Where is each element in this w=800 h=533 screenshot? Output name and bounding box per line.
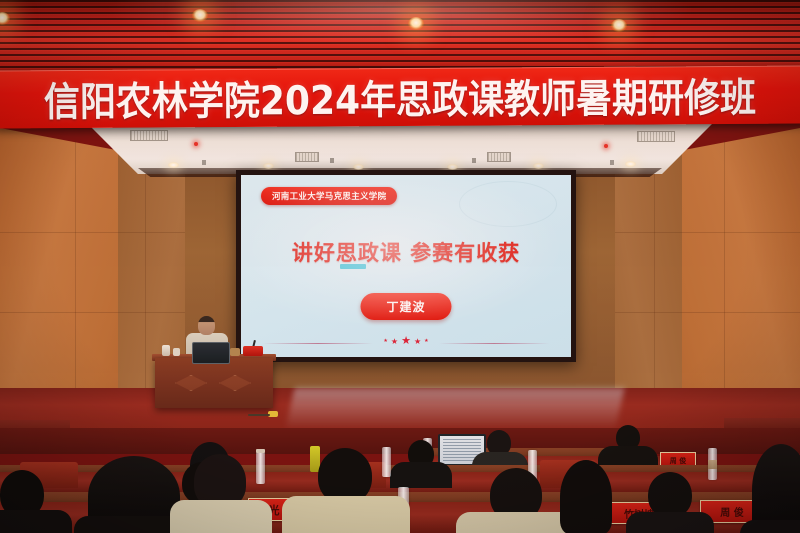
slide-watermark xyxy=(459,181,557,227)
water-bottle xyxy=(382,447,391,477)
podium-red-folder xyxy=(243,346,263,356)
audience-shoulders xyxy=(282,496,410,533)
ceiling-sprinkler xyxy=(610,160,614,165)
ceiling-sprinkler xyxy=(330,158,334,163)
audience-shoulders xyxy=(626,512,714,533)
ceiling-indicator-light xyxy=(194,142,198,146)
recessed-downlight xyxy=(263,163,274,169)
red-slatted-ceiling xyxy=(0,0,800,72)
stage-floor-cable xyxy=(248,414,270,416)
star-icon: ★ xyxy=(391,338,398,346)
audience-hair xyxy=(560,460,612,533)
audience-shoulders xyxy=(740,520,800,533)
white-ceiling-soffit xyxy=(88,124,712,174)
audience-shoulders xyxy=(170,500,272,533)
podium-panel-carving xyxy=(175,375,207,391)
ceiling-sprinkler xyxy=(202,160,206,165)
wall-seam xyxy=(612,232,800,233)
ceiling-sprinkler xyxy=(472,158,476,163)
podium-teacup xyxy=(173,348,180,356)
star-icon: ★ xyxy=(401,336,411,347)
wall-seam xyxy=(654,156,655,424)
speaker-head xyxy=(198,316,215,335)
recessed-downlight xyxy=(533,163,544,169)
wall-seam xyxy=(0,312,188,313)
ceiling-indicator-light xyxy=(604,144,608,148)
recessed-downlight xyxy=(625,161,636,167)
placard-name-text: 周 俊 xyxy=(670,456,686,466)
placard-name-text: 周 俊 xyxy=(720,504,743,519)
hvac-vent xyxy=(295,152,319,162)
podium-laptop xyxy=(192,342,230,364)
ceiling-spotlight xyxy=(192,9,208,22)
wall-seam xyxy=(612,312,800,313)
wall-seam xyxy=(0,232,188,233)
lecture-hall-photo: 信阳农林学院2024年思政课教师暑期研修班 河南工业大学马克思主义学院 讲好思政… xyxy=(0,0,800,533)
stage-front-riser xyxy=(0,428,800,454)
bottle-label xyxy=(708,460,717,469)
star-icon: ★ xyxy=(424,339,428,344)
projection-screen-frame: 河南工业大学马克思主义学院 讲好思政课 参赛有收获 丁建波 ★ ★ ★ ★ ★ xyxy=(236,170,576,362)
bottle-cap xyxy=(256,449,265,453)
hvac-vent xyxy=(637,131,675,142)
wall-seam xyxy=(145,156,146,424)
ceiling-spotlight xyxy=(611,19,627,32)
recessed-downlight xyxy=(168,162,179,168)
event-banner: 信阳农林学院2024年思政课教师暑期研修班 xyxy=(0,66,800,129)
podium-water-cup xyxy=(162,345,170,356)
slide-presenter-name: 丁建波 xyxy=(360,293,451,320)
banner-title-text: 信阳农林学院2024年思政课教师暑期研修班 xyxy=(44,66,757,128)
slide-star-decoration: ★ ★ ★ ★ ★ xyxy=(383,336,428,347)
slide-title-underline xyxy=(340,264,366,269)
projection-screen: 河南工业大学马克思主义学院 讲好思政课 参赛有收获 丁建波 ★ ★ ★ ★ ★ xyxy=(241,175,571,357)
water-bottle xyxy=(256,452,265,484)
slide-title-text: 讲好思政课 参赛有收获 xyxy=(241,237,571,267)
ceiling-spotlight xyxy=(408,17,424,30)
podium-nameplate xyxy=(230,348,240,356)
slide-divider-left xyxy=(263,343,373,344)
star-icon: ★ xyxy=(383,339,387,344)
wall-seam xyxy=(75,140,76,420)
slide-institution-badge: 河南工业大学马克思主义学院 xyxy=(261,187,397,205)
wall-seam xyxy=(724,140,725,420)
podium-panel-carving xyxy=(219,375,251,391)
hvac-vent xyxy=(487,152,511,162)
slide-divider-right xyxy=(439,343,549,344)
stage-floor-reflection xyxy=(286,388,625,430)
podium xyxy=(155,358,273,408)
audience-shoulders xyxy=(390,462,452,488)
star-icon: ★ xyxy=(414,338,421,346)
audience-shoulders xyxy=(0,510,72,533)
hvac-vent xyxy=(130,130,168,141)
